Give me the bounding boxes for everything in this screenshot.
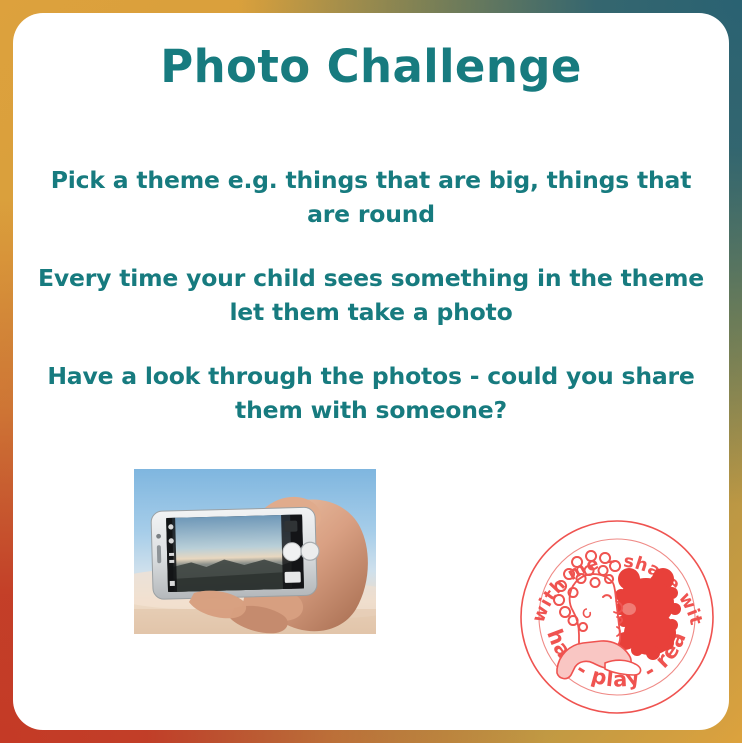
instructions-list: Pick a theme e.g. things that are big, t… — [37, 163, 705, 427]
instruction-paragraph-2: Every time your child sees something in … — [37, 261, 705, 329]
instruction-paragraph-1: Pick a theme e.g. things that are big, t… — [37, 163, 705, 231]
poster-card: Photo Challenge Pick a theme e.g. things… — [13, 13, 729, 730]
phone-photo-illustration — [134, 469, 376, 634]
instruction-paragraph-3: Have a look through the photos - could y… — [37, 359, 705, 427]
brand-logo: bear with me – share with me chat - play… — [517, 517, 717, 717]
poster-root: Photo Challenge Pick a theme e.g. things… — [0, 0, 742, 743]
page-title: Photo Challenge — [13, 41, 729, 93]
brand-logo-svg: bear with me – share with me chat - play… — [517, 517, 717, 717]
phone-photo-image — [134, 469, 376, 634]
